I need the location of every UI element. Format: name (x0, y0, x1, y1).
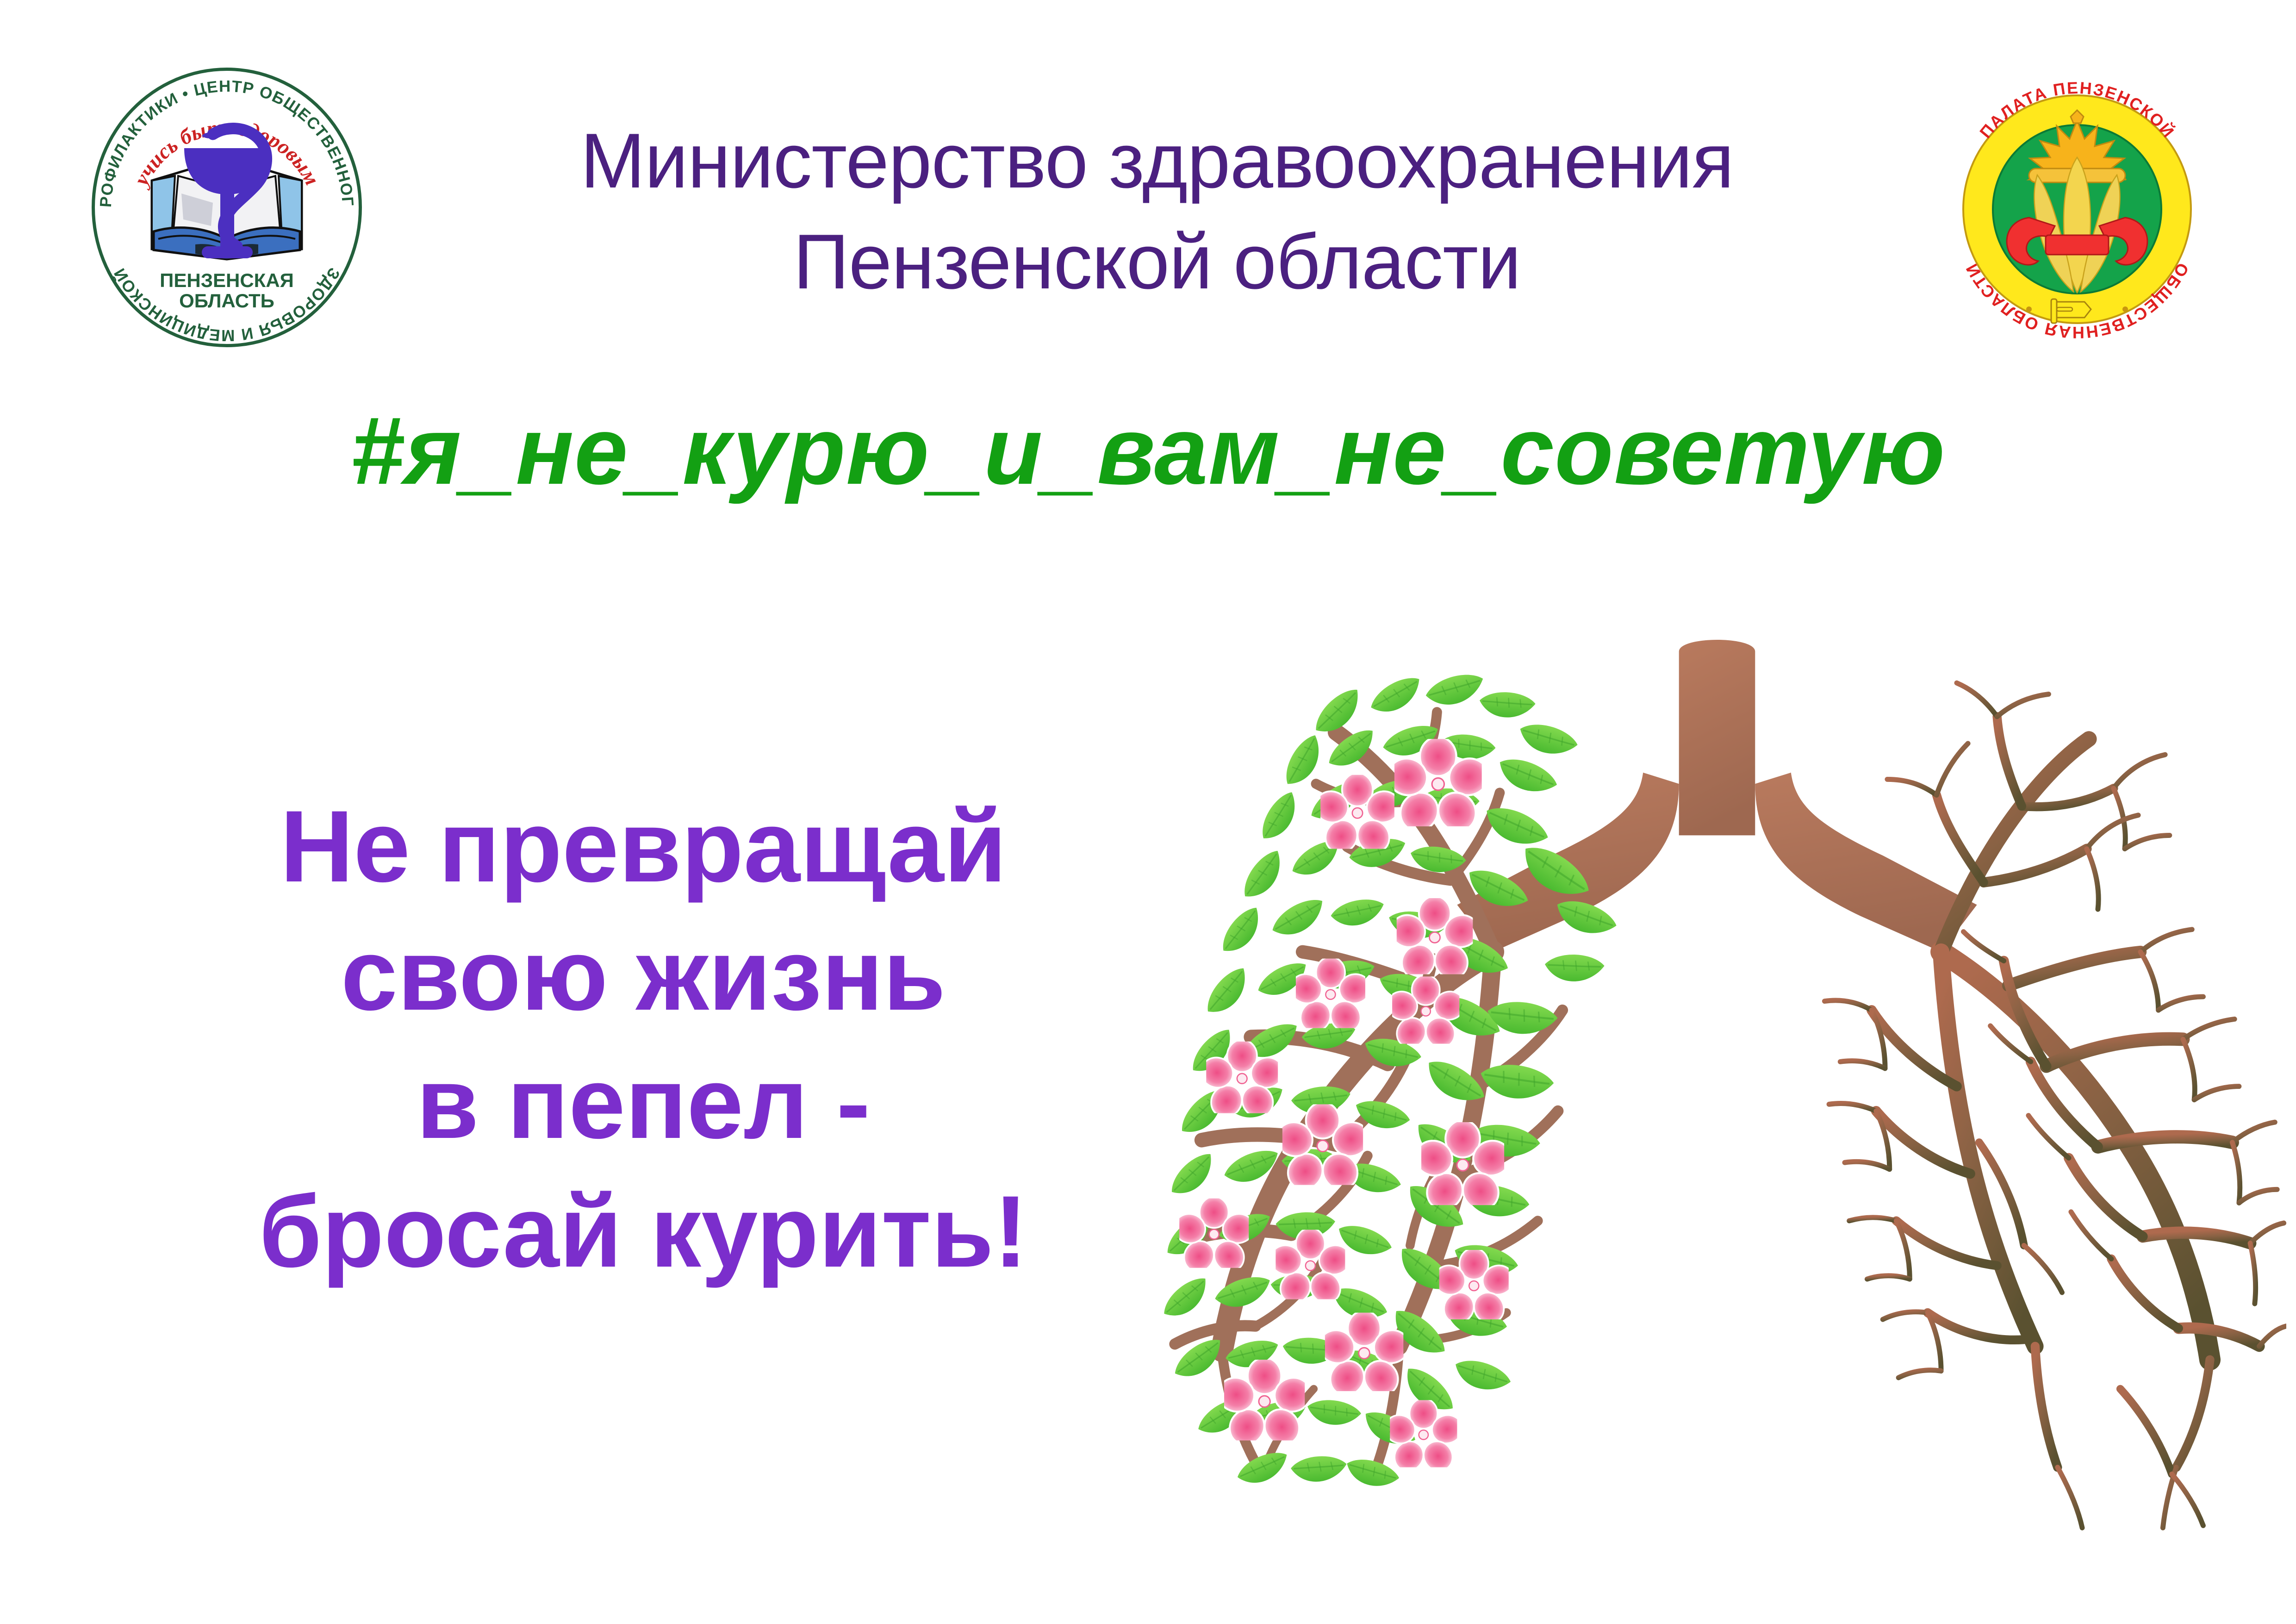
logo-public-chamber: ПАЛАТА ПЕНЗЕНСКОЙ ОБЩЕСТВЕННАЯ ОБЛАСТИ (1938, 65, 2216, 352)
slogan-text: Не превращай свою жизнь в пепел - бросай… (106, 782, 1180, 1296)
logo-center-public-health: ПРОФИЛАКТИКИ • ЦЕНТР ОБЩЕСТВЕННОГО ЗДОРО… (74, 59, 380, 356)
logo-region-line-1: ПЕНЗЕНСКАЯ (160, 269, 294, 291)
trachea (1457, 640, 1977, 952)
lungs-graphic (1148, 616, 2286, 1602)
slogan-line-2: свою жизнь (106, 911, 1180, 1039)
campaign-hashtag: #я_не_курю_и_вам_не_советую (0, 396, 2296, 506)
lungs-illustration (1148, 616, 2286, 1602)
header-bar: ПРОФИЛАКТИКИ • ЦЕНТР ОБЩЕСТВЕННОГО ЗДОРО… (0, 0, 2296, 366)
left-lung-healthy (1157, 673, 1619, 1496)
slogan-line-1: Не превращай (106, 782, 1180, 911)
logo-right-graphic: ПАЛАТА ПЕНЗЕНСКОЙ ОБЩЕСТВЕННАЯ ОБЛАСТИ (1938, 65, 2216, 352)
right-lung-damaged (1824, 683, 2286, 1528)
logo-left-graphic: ПРОФИЛАКТИКИ • ЦЕНТР ОБЩЕСТВЕННОГО ЗДОРО… (74, 59, 380, 356)
slogan-line-3: в пепел - (106, 1039, 1180, 1167)
page-title: Министерство здравоохранения Пензенской … (546, 110, 1768, 312)
slogan-line-4: бросай курить! (106, 1168, 1180, 1296)
ministry-title-line-2: Пензенской области (546, 211, 1768, 312)
logo-region-line-2: ОБЛАСТЬ (179, 290, 274, 312)
ministry-title-line-1: Министерство здравоохранения (546, 110, 1768, 211)
